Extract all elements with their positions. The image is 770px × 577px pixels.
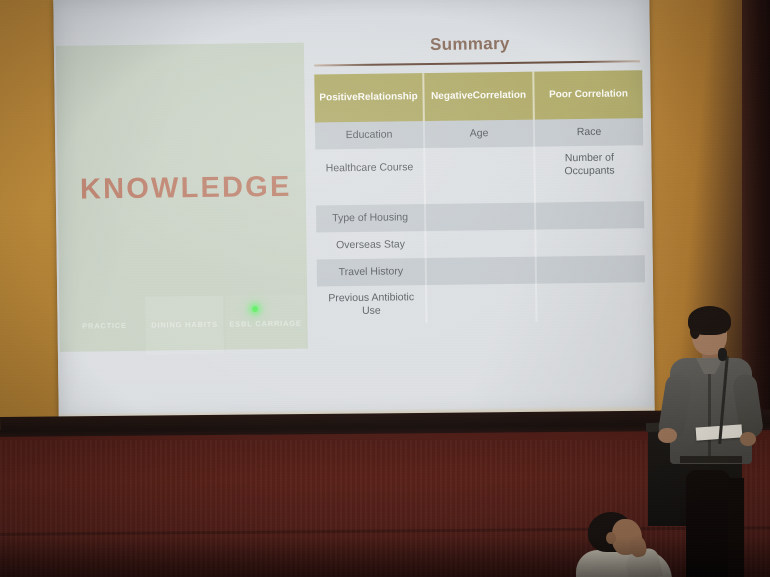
table-body: EducationAgeRaceHealthcare CourseNumber … — [315, 118, 646, 324]
table-row: Previous Antibiotic Use — [317, 282, 645, 324]
column-header-positive-line1: Positive — [319, 92, 358, 105]
presentation-photo: KNOWLEDGE PRACTICE DINING HABITS ESBL CA… — [0, 0, 770, 577]
table-row: Overseas Stay — [316, 228, 644, 259]
table-cell: Age — [425, 120, 535, 148]
presenter-belt — [680, 456, 742, 463]
table-row: Healthcare CourseNumber of Occupants — [315, 145, 643, 187]
column-header-negative-line1: Negative — [431, 90, 473, 103]
column-header-negative: Negative Correlation — [424, 72, 535, 121]
table-cell — [536, 228, 644, 256]
table-cell — [425, 147, 535, 186]
presenter-right-hand — [740, 432, 756, 446]
slide-headline: KNOWLEDGE — [70, 171, 302, 207]
presenter-hair — [688, 306, 731, 335]
table-cell — [427, 284, 537, 323]
slide-content-right: Summary Positive Relationship Negative C… — [305, 0, 655, 420]
table-cell: Overseas Stay — [316, 231, 426, 259]
glasses-icon — [693, 332, 726, 339]
faded-label-row: PRACTICE DINING HABITS ESBL CARRIAGE — [59, 295, 310, 356]
left-wall-panel — [0, 0, 60, 418]
slide-title: Summary — [306, 32, 634, 56]
table-cell: Education — [315, 121, 425, 149]
column-header-poor-line1: Poor Correlation — [549, 88, 628, 101]
table-cell — [426, 230, 536, 258]
summary-table: Positive Relationship Negative Correlati… — [314, 70, 645, 324]
table-cell — [536, 201, 644, 229]
projection-screen: KNOWLEDGE PRACTICE DINING HABITS ESBL CA… — [53, 0, 655, 423]
table-cell — [316, 186, 426, 205]
table-cell: Type of Housing — [316, 204, 426, 232]
presenter-left-hand — [658, 428, 677, 443]
column-header-poor: Poor Correlation — [534, 70, 643, 119]
faded-label-practice: PRACTICE — [65, 297, 144, 356]
table-cell: Healthcare Course — [315, 148, 425, 187]
table-cell — [427, 257, 537, 285]
microphone-icon — [718, 348, 727, 361]
table-cell — [536, 183, 644, 202]
table-row: Type of Housing — [316, 201, 644, 232]
table-cell: Number of Occupants — [535, 145, 643, 184]
column-header-negative-line2: Correlation — [473, 90, 526, 103]
title-underline — [314, 60, 640, 66]
slide-left-panel: KNOWLEDGE PRACTICE DINING HABITS ESBL CA… — [56, 43, 308, 352]
table-cell: Previous Antibiotic Use — [317, 285, 427, 324]
laser-pointer-dot — [252, 306, 258, 312]
table-cell — [426, 185, 536, 204]
slide: KNOWLEDGE PRACTICE DINING HABITS ESBL CA… — [53, 0, 655, 423]
faded-label-dining-habits: DINING HABITS — [145, 296, 224, 355]
table-row: EducationAgeRace — [315, 118, 643, 149]
table-cell: Travel History — [317, 258, 427, 286]
table-header-row: Positive Relationship Negative Correlati… — [314, 70, 643, 122]
table-cell — [537, 282, 645, 321]
column-header-positive-line2: Relationship — [358, 91, 418, 104]
presenter-shirt-placket — [708, 366, 711, 458]
table-cell — [426, 203, 536, 231]
column-header-positive: Positive Relationship — [314, 73, 425, 122]
table-cell: Race — [535, 118, 643, 146]
floor-shadow — [0, 537, 770, 577]
table-row: Travel History — [317, 255, 645, 286]
table-cell — [537, 255, 645, 283]
faded-label-esbl-carriage: ESBL CARRIAGE — [225, 295, 306, 354]
